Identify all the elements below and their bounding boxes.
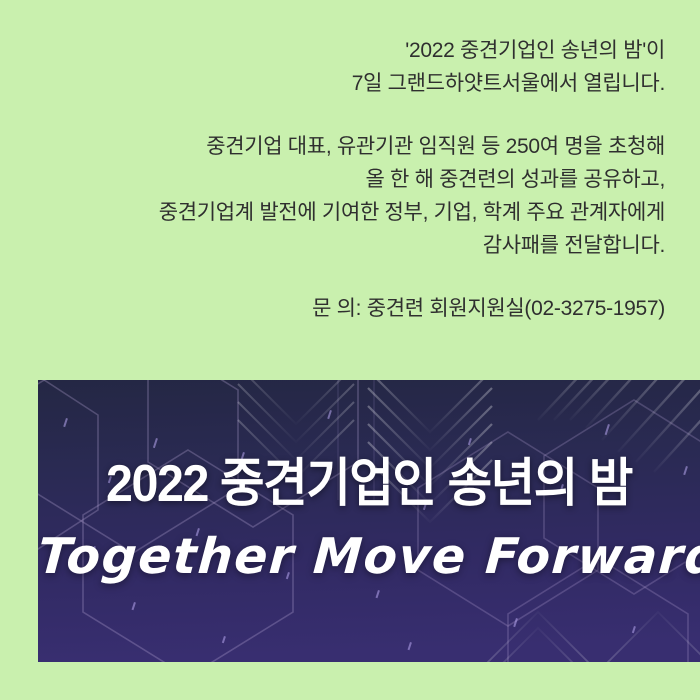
banner-geometric-pattern-icon (38, 380, 700, 662)
page-root: '2022 중견기업인 송년의 밤'이 7일 그랜드하얏트서울에서 열립니다. … (0, 0, 700, 700)
event-banner: 2022 중견기업인 송년의 밤 Together Move Forward (38, 380, 700, 662)
banner-title: 2022 중견기업인 송년의 밤 (61, 458, 677, 510)
article-text-block: '2022 중견기업인 송년의 밤'이 7일 그랜드하얏트서울에서 열립니다. … (0, 0, 700, 325)
article-paragraph-lead: '2022 중견기업인 송년의 밤'이 7일 그랜드하얏트서울에서 열립니다. (35, 34, 665, 100)
banner-tagline: Together Move Forward (38, 532, 700, 581)
article-paragraph-contact: 문 의: 중견련 회원지원실(02-3275-1957) (35, 292, 665, 325)
article-paragraph-body: 중견기업 대표, 유관기관 임직원 등 250여 명을 초청해 올 한 해 중견… (35, 130, 665, 262)
